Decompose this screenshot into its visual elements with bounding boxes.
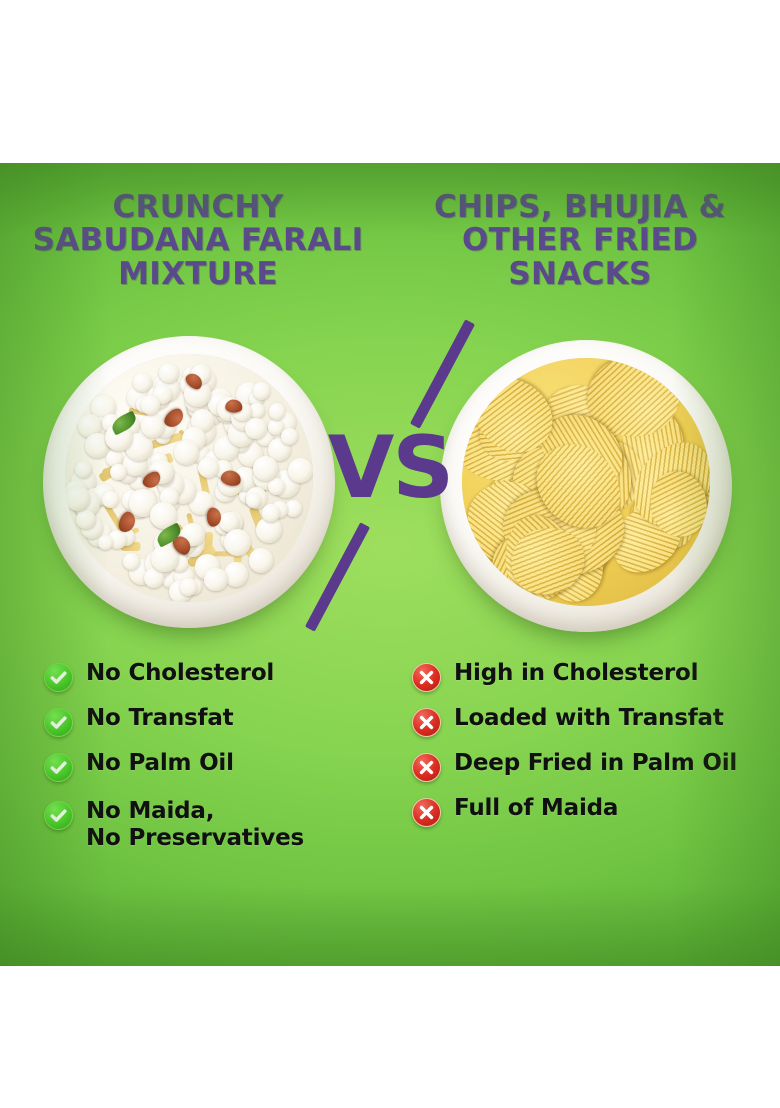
- left-product-image: [43, 336, 335, 628]
- bowl-right-vessel: [440, 340, 732, 632]
- list-item: Loaded with Transfat: [412, 705, 762, 737]
- list-item-label: No Transfat: [86, 705, 233, 732]
- comparison-panel: CRUNCHY SABUDANA FARALI MIXTURE CHIPS, B…: [0, 163, 780, 966]
- sabudana-pearl: [174, 440, 199, 465]
- bowl-left-contents: [65, 354, 313, 602]
- left-product-heading: CRUNCHY SABUDANA FARALI MIXTURE: [18, 191, 378, 291]
- cross-circle-icon: [412, 798, 441, 827]
- list-item-label: No Palm Oil: [86, 750, 234, 777]
- list-item: No Cholesterol: [44, 660, 374, 692]
- sabudana-pearl: [224, 529, 251, 556]
- right-drawbacks-list: High in CholesterolLoaded with TransfatD…: [412, 660, 762, 840]
- sabudana-pearl: [180, 578, 198, 596]
- sabudana-pearl: [141, 414, 165, 438]
- sabudana-pearl: [253, 456, 278, 481]
- cross-circle-icon: [412, 708, 441, 737]
- bowl-right-contents: [462, 358, 710, 606]
- list-item-label: Loaded with Transfat: [454, 705, 724, 732]
- sabudana-pearl: [110, 464, 126, 480]
- list-item: No Palm Oil: [44, 750, 374, 782]
- check-circle-icon: [44, 753, 73, 782]
- check-circle-icon: [44, 708, 73, 737]
- list-item-label: Deep Fried in Palm Oil: [454, 750, 737, 777]
- sabudana-pearl: [262, 504, 279, 521]
- check-circle-icon: [44, 663, 73, 692]
- list-item: Deep Fried in Palm Oil: [412, 750, 762, 782]
- sabudana-pearl: [133, 373, 152, 392]
- list-item-label: Full of Maida: [454, 795, 618, 822]
- cross-circle-icon: [412, 753, 441, 782]
- list-item: Full of Maida: [412, 795, 762, 827]
- sabudana-pearl: [269, 403, 285, 419]
- sabudana-pearl: [245, 418, 267, 440]
- list-item-label: No Maida, No Preservatives: [86, 798, 304, 852]
- check-circle-icon: [44, 801, 73, 830]
- list-item-label: No Cholesterol: [86, 660, 274, 687]
- left-benefits-list: No CholesterolNo TransfatNo Palm OilNo M…: [44, 660, 374, 852]
- list-item-label: High in Cholesterol: [454, 660, 698, 687]
- sabudana-pearl: [253, 382, 271, 400]
- sabudana-pearl: [65, 486, 90, 511]
- right-product-image: [440, 340, 732, 632]
- cross-circle-icon: [412, 663, 441, 692]
- right-product-heading: CHIPS, BHUJIA & OTHER FRIED SNACKS: [400, 191, 760, 291]
- sabudana-pearl: [288, 458, 313, 483]
- bowl-left-vessel: [43, 336, 335, 628]
- sabudana-pearl: [159, 363, 179, 383]
- list-item: High in Cholesterol: [412, 660, 762, 692]
- sabudana-pearl: [76, 510, 96, 530]
- list-item: No Maida, No Preservatives: [44, 798, 374, 852]
- sabudana-pearl: [123, 553, 140, 570]
- sabudana-pearl: [102, 491, 119, 508]
- sabudana-pearl: [204, 568, 228, 592]
- sabudana-pearl: [249, 548, 273, 572]
- list-item: No Transfat: [44, 705, 374, 737]
- sabudana-pearl: [141, 395, 160, 414]
